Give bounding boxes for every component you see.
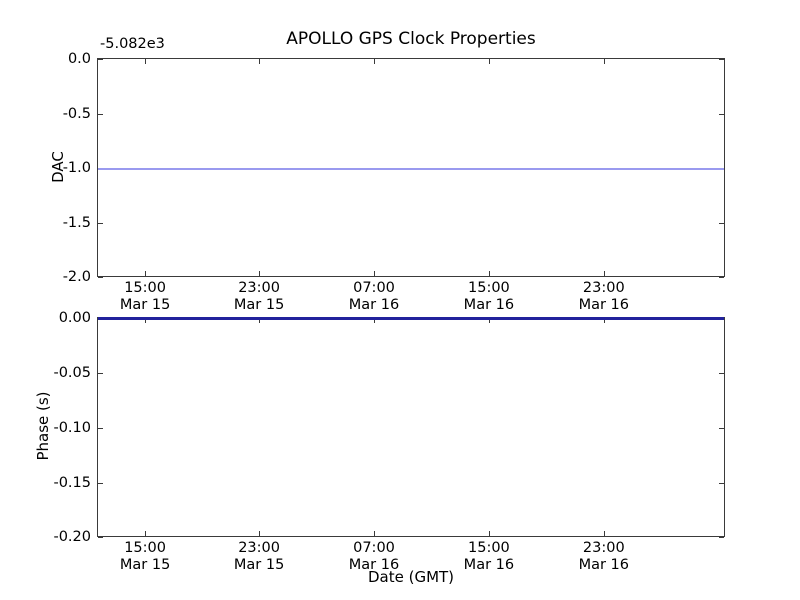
dac-x-tick-label-1: 23:00 Mar 15: [234, 280, 284, 314]
dac-x-tick-time-3: 15:00: [464, 280, 514, 297]
dac-x-tick-mark-top-1: [259, 59, 260, 64]
dac-x-tick-mark-1: [259, 271, 260, 276]
dac-x-tick-mark-top-2: [374, 59, 375, 64]
dac-x-tick-mark-2: [374, 271, 375, 276]
phase-y-axis-label: Phase (s): [34, 371, 52, 481]
dac-y-tick-mark-right-4: [719, 277, 724, 278]
dac-x-tick-date-3: Mar 16: [464, 297, 514, 314]
dac-x-tick-label-2: 07:00 Mar 16: [349, 280, 399, 314]
dac-x-tick-time-1: 23:00: [234, 280, 284, 297]
dac-x-tick-date-1: Mar 15: [234, 297, 284, 314]
dac-y-tick-mark-0: [98, 59, 103, 60]
dac-x-tick-time-2: 07:00: [349, 280, 399, 297]
dac-x-tick-date-4: Mar 16: [579, 297, 629, 314]
phase-x-tick-mark-1: [259, 531, 260, 536]
phase-x-tick-time-3: 15:00: [464, 540, 514, 557]
dac-subplot-axes: 0.0 -0.5 -1.0 -1.5 -2.0 15:00 Mar 15 23:…: [97, 58, 725, 277]
phase-y-tick-mark-right-4: [719, 537, 724, 538]
phase-x-tick-mark-3: [489, 531, 490, 536]
dac-y-tick-label-4: -2.0: [63, 269, 91, 285]
phase-y-tick-label-1: -0.05: [53, 365, 91, 381]
chart-title: APOLLO GPS Clock Properties: [97, 29, 725, 49]
phase-x-tick-time-2: 07:00: [349, 540, 399, 557]
phase-y-tick-mark-4: [98, 537, 103, 538]
dac-x-tick-label-4: 23:00 Mar 16: [579, 280, 629, 314]
dac-x-tick-date-2: Mar 16: [349, 297, 399, 314]
dac-x-tick-mark-0: [145, 271, 146, 276]
dac-y-tick-mark-3: [98, 223, 103, 224]
phase-series-line: [98, 317, 724, 320]
dac-y-axis-label: DAC: [49, 122, 67, 212]
phase-y-tick-mark-1: [98, 373, 103, 374]
phase-y-tick-label-0: 0.00: [59, 310, 91, 326]
phase-y-tick-mark-right-2: [719, 428, 724, 429]
dac-y-tick-label-1: -0.5: [63, 106, 91, 122]
dac-x-tick-date-0: Mar 15: [120, 297, 170, 314]
phase-x-tick-mark-2: [374, 531, 375, 536]
phase-x-tick-time-4: 23:00: [579, 540, 629, 557]
dac-x-tick-time-4: 23:00: [579, 280, 629, 297]
dac-y-tick-mark-right-0: [719, 59, 724, 60]
phase-y-tick-mark-2: [98, 428, 103, 429]
dac-x-tick-mark-top-3: [489, 59, 490, 64]
phase-y-tick-mark-3: [98, 483, 103, 484]
dac-x-tick-label-3: 15:00 Mar 16: [464, 280, 514, 314]
phase-y-tick-mark-right-1: [719, 373, 724, 374]
dac-y-tick-label-0: 0.0: [68, 51, 91, 67]
phase-x-tick-time-1: 23:00: [234, 540, 284, 557]
phase-x-tick-time-0: 15:00: [120, 540, 170, 557]
dac-series-line: [98, 168, 724, 170]
dac-x-tick-mark-top-4: [604, 59, 605, 64]
dac-x-tick-mark-top-0: [145, 59, 146, 64]
dac-y-tick-mark-right-1: [719, 114, 724, 115]
dac-y-tick-mark-right-3: [719, 223, 724, 224]
x-axis-label: Date (GMT): [97, 568, 725, 586]
dac-x-tick-label-0: 15:00 Mar 15: [120, 280, 170, 314]
dac-y-tick-mark-1: [98, 114, 103, 115]
phase-y-tick-label-4: -0.20: [53, 529, 91, 545]
phase-x-tick-mark-0: [145, 531, 146, 536]
phase-subplot-axes: 0.00 -0.05 -0.10 -0.15 -0.20 15:00 Mar 1…: [97, 317, 725, 537]
phase-y-tick-mark-right-3: [719, 483, 724, 484]
dac-x-tick-mark-4: [604, 271, 605, 276]
phase-y-tick-label-3: -0.15: [53, 475, 91, 491]
phase-y-tick-label-2: -0.10: [53, 420, 91, 436]
dac-x-tick-mark-3: [489, 271, 490, 276]
dac-y-tick-label-3: -1.5: [63, 215, 91, 231]
dac-x-tick-time-0: 15:00: [120, 280, 170, 297]
figure-canvas: APOLLO GPS Clock Properties -5.082e3 0.0…: [0, 0, 800, 600]
phase-x-tick-mark-4: [604, 531, 605, 536]
y-axis-offset-label: -5.082e3: [100, 36, 165, 52]
dac-y-tick-mark-4: [98, 277, 103, 278]
